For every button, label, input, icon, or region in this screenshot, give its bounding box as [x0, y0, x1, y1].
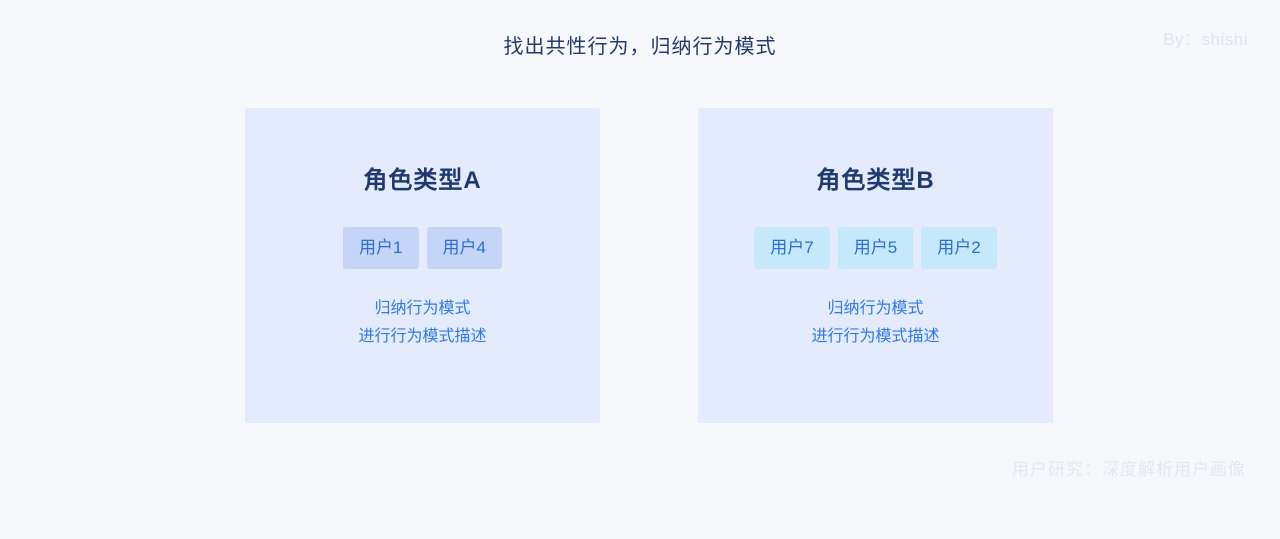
- persona-card-a-description: 归纳行为模式 进行行为模式描述: [358, 295, 486, 351]
- persona-card-a-user-chips: 用户1 用户4: [343, 227, 502, 269]
- user-chip[interactable]: 用户2: [921, 227, 996, 269]
- description-line: 归纳行为模式: [358, 295, 486, 323]
- user-chip[interactable]: 用户4: [427, 227, 502, 269]
- persona-card-a-title: 角色类型A: [363, 164, 481, 198]
- persona-card-b-user-chips: 用户7 用户5 用户2: [754, 227, 996, 269]
- persona-card-group: 角色类型A 用户1 用户4 归纳行为模式 进行行为模式描述 角色类型B 用户7 …: [245, 108, 1053, 423]
- user-chip[interactable]: 用户1: [343, 227, 418, 269]
- description-line: 归纳行为模式: [811, 295, 939, 323]
- persona-card-b-title: 角色类型B: [816, 164, 934, 198]
- description-line: 进行行为模式描述: [358, 323, 486, 351]
- description-line: 进行行为模式描述: [811, 323, 939, 351]
- persona-card-b-description: 归纳行为模式 进行行为模式描述: [811, 295, 939, 351]
- page-title: 找出共性行为，归纳行为模式: [0, 32, 1280, 62]
- author-byline: By：shishi: [1163, 28, 1248, 52]
- persona-card-b[interactable]: 角色类型B 用户7 用户5 用户2 归纳行为模式 进行行为模式描述: [698, 108, 1053, 423]
- persona-card-a[interactable]: 角色类型A 用户1 用户4 归纳行为模式 进行行为模式描述: [245, 108, 600, 423]
- user-chip[interactable]: 用户7: [754, 227, 829, 269]
- slide-canvas: 找出共性行为，归纳行为模式 By：shishi 角色类型A 用户1 用户4 归纳…: [0, 0, 1280, 539]
- footer-note: 用户研究：深度解析用户画像: [1012, 458, 1246, 482]
- user-chip[interactable]: 用户5: [838, 227, 913, 269]
